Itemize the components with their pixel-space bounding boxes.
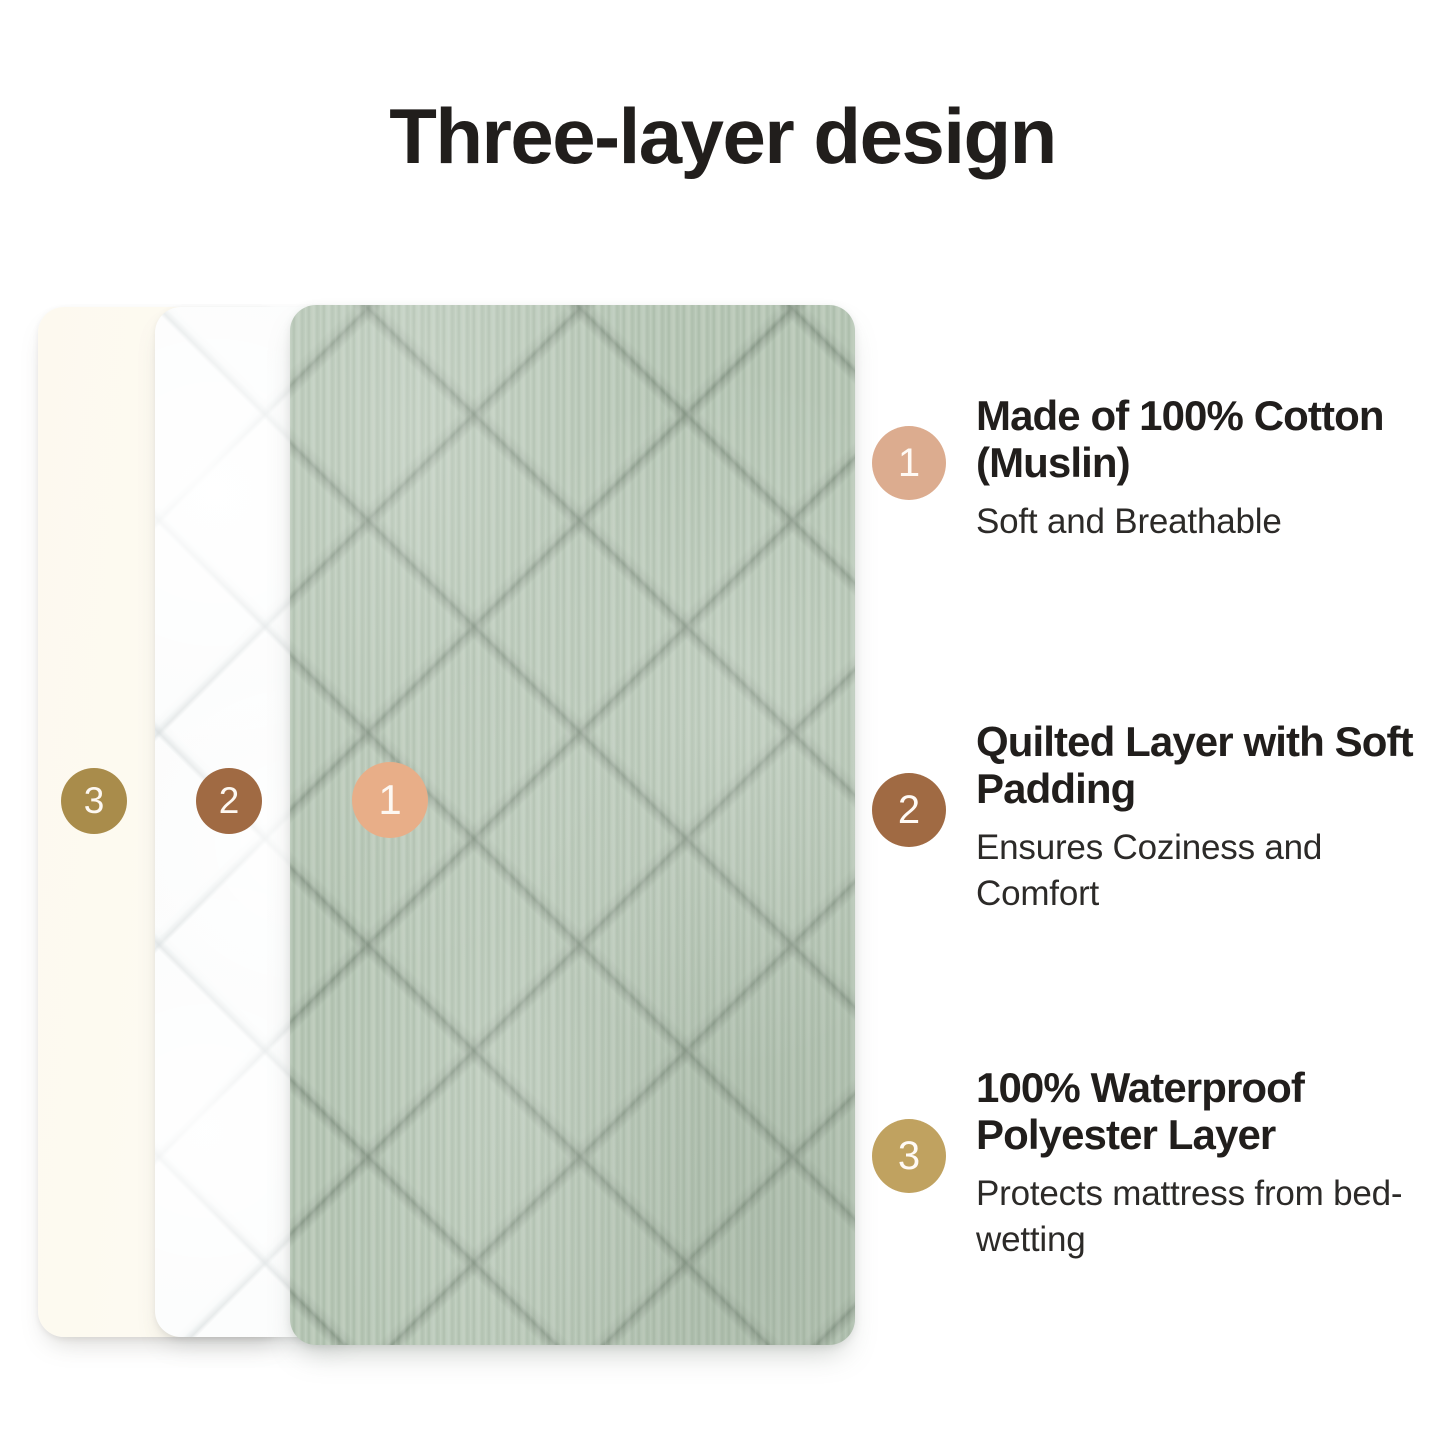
feature-item-2: 2 Quilted Layer with Soft Padding Ensure… [872,718,1445,916]
feature-subtext-1: Soft and Breathable [976,499,1444,545]
product-layer-stack: 3 2 1 [0,0,900,1445]
feature-item-3: 3 100% Waterproof Polyester Layer Protec… [872,1064,1445,1262]
feature-badge-1: 1 [872,426,946,500]
feature-item-1: 1 Made of 100% Cotton (Muslin) Soft and … [872,392,1445,545]
feature-heading-2: Quilted Layer with Soft Padding [976,718,1444,812]
feature-list: 1 Made of 100% Cotton (Muslin) Soft and … [872,0,1445,1445]
layer-badge-1: 1 [352,762,428,838]
feature-heading-1: Made of 100% Cotton (Muslin) [976,392,1444,486]
feature-text-3: 100% Waterproof Polyester Layer Protects… [976,1064,1444,1262]
layer-badge-3: 3 [61,768,127,834]
feature-text-1: Made of 100% Cotton (Muslin) Soft and Br… [976,392,1444,545]
feature-badge-3: 3 [872,1119,946,1193]
feature-badge-2: 2 [872,773,946,847]
feature-heading-3: 100% Waterproof Polyester Layer [976,1064,1444,1158]
feature-subtext-2: Ensures Coziness and Comfort [976,825,1444,916]
feature-subtext-3: Protects mattress from bed-wetting [976,1171,1444,1262]
feature-text-2: Quilted Layer with Soft Padding Ensures … [976,718,1444,916]
layer-badge-2: 2 [196,768,262,834]
